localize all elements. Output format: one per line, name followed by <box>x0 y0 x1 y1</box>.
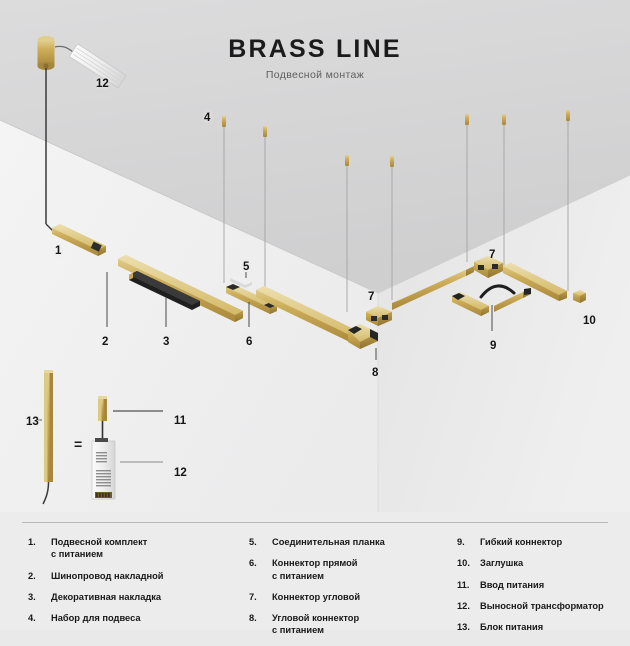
callout-6: 6 <box>246 337 252 349</box>
legend-item-number: 1. <box>28 536 51 561</box>
callout-12: 12 <box>174 468 187 480</box>
callout-11: 11 <box>174 416 186 428</box>
legend-item: 5.Соединительная планка <box>249 536 454 548</box>
driver-box <box>92 438 115 499</box>
legend-column-2: 5.Соединительная планка6.Коннектор прямо… <box>249 536 454 646</box>
page-subtitle: Подвесной монтаж <box>0 69 630 81</box>
legend-item-label: Набор для подвеса <box>51 612 141 624</box>
legend-item-label: Блок питания <box>480 621 543 633</box>
legend-item: 11.Ввод питания <box>457 579 627 591</box>
legend-item: 10.Заглушка <box>457 557 627 569</box>
equals-sign: = <box>74 437 82 451</box>
legend-divider <box>22 522 608 523</box>
callout-7a: 7 <box>368 292 374 304</box>
legend-item-label: Шинопровод накладной <box>51 570 164 582</box>
legend-item-label: Выносной трансформатор <box>480 600 604 612</box>
legend-column-1: 1.Подвесной комплект с питанием2.Шинопро… <box>28 536 228 633</box>
legend-item-label: Подвесной комплект с питанием <box>51 536 147 561</box>
callout-8: 8 <box>372 368 378 380</box>
legend-item-label: Гибкий коннектор <box>480 536 562 548</box>
legend-item: 9.Гибкий коннектор <box>457 536 627 548</box>
legend-item: 3.Декоративная накладка <box>28 591 228 603</box>
legend-item-label: Угловой коннектор с питанием <box>272 612 359 637</box>
legend: 1.Подвесной комплект с питанием2.Шинопро… <box>0 512 630 630</box>
legend-item-number: 8. <box>249 612 272 637</box>
page-title: BRASS LINE <box>0 36 630 62</box>
product-diagram-page: BRASS LINE Подвесной монтаж 123456778910… <box>0 0 630 630</box>
legend-item-label: Коннектор угловой <box>272 591 360 603</box>
legend-item-label: Декоративная накладка <box>51 591 161 603</box>
legend-item-label: Ввод питания <box>480 579 544 591</box>
legend-item-number: 10. <box>457 557 480 569</box>
legend-item-label: Заглушка <box>480 557 523 569</box>
callout-7b: 7 <box>489 250 495 262</box>
callout-3: 3 <box>163 337 169 349</box>
legend-item-number: 11. <box>457 579 480 591</box>
callout-2: 2 <box>102 337 108 349</box>
legend-item: 7.Коннектор угловой <box>249 591 454 603</box>
legend-item-number: 3. <box>28 591 51 603</box>
legend-column-3: 9.Гибкий коннектор10.Заглушка11.Ввод пит… <box>457 536 627 642</box>
legend-item-number: 12. <box>457 600 480 612</box>
callout-5: 5 <box>243 262 249 274</box>
callout-9: 9 <box>490 341 496 353</box>
legend-item-number: 7. <box>249 591 272 603</box>
legend-item-number: 13. <box>457 621 480 633</box>
legend-item: 2.Шинопровод накладной <box>28 570 228 582</box>
legend-item: 8.Угловой коннектор с питанием <box>249 612 454 637</box>
legend-item: 4.Набор для подвеса <box>28 612 228 624</box>
title-block: BRASS LINE Подвесной монтаж <box>0 36 630 81</box>
legend-item-number: 5. <box>249 536 272 548</box>
legend-item: 1.Подвесной комплект с питанием <box>28 536 228 561</box>
legend-item-number: 9. <box>457 536 480 548</box>
legend-item-number: 6. <box>249 557 272 582</box>
callout-13: 13 <box>26 417 39 429</box>
legend-item: 6.Коннектор прямой с питанием <box>249 557 454 582</box>
callout-10: 10 <box>583 316 596 328</box>
legend-item-label: Коннектор прямой с питанием <box>272 557 358 582</box>
room-illustration: BRASS LINE Подвесной монтаж 123456778910… <box>0 0 630 512</box>
legend-item-number: 4. <box>28 612 51 624</box>
legend-item-number: 2. <box>28 570 51 582</box>
legend-item: 12.Выносной трансформатор <box>457 600 627 612</box>
legend-item-label: Соединительная планка <box>272 536 385 548</box>
callout-1: 1 <box>55 246 61 258</box>
legend-item: 13.Блок питания <box>457 621 627 633</box>
callout-4: 4 <box>204 113 210 125</box>
